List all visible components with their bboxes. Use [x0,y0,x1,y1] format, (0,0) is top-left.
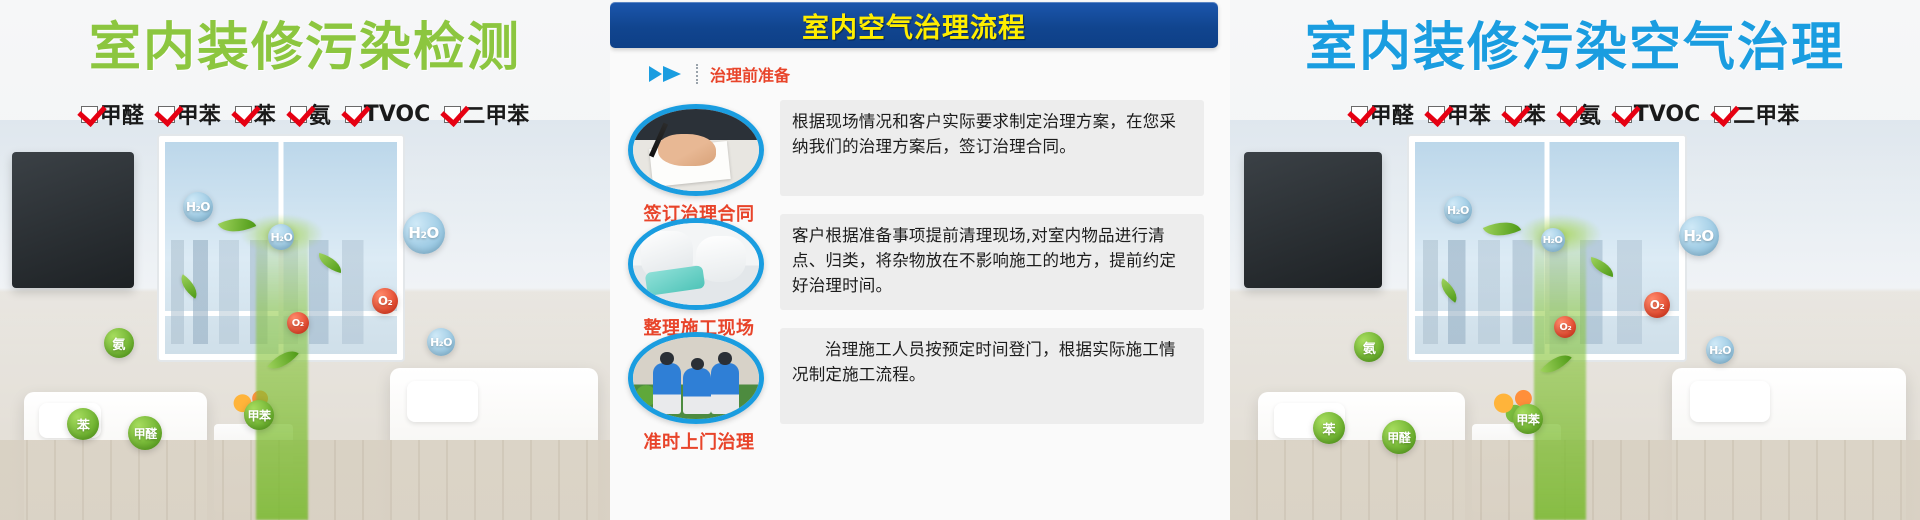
workers-arriving-photo [633,337,759,419]
checkmark-icon [345,106,362,123]
banner-stage: H₂O H₂O H₂O H₂O O₂ O₂ 氨 苯 甲醛 甲苯 室内装修污染检测… [0,0,1920,520]
checkmark-icon [1351,106,1368,123]
step-thumbnail-contract-signing[interactable] [628,104,764,196]
checkmark-icon [1615,106,1632,123]
check-item-toluene[interactable]: 甲苯 [1428,98,1491,130]
step-caption: 准时上门治理 [624,428,774,454]
green-light-beam [256,220,308,520]
molecule-benzene-icon: 苯 [67,408,99,440]
right-panel: H₂O H₂O H₂O H₂O O₂ O₂ 氨 苯 甲醛 甲苯 室内装修污染空气… [1230,0,1920,520]
check-item-toluene[interactable]: 甲苯 [158,98,221,130]
check-label: 二甲苯 [463,98,529,130]
molecule-o2-icon: O₂ [1644,292,1670,318]
right-check-list: 甲醛 甲苯 苯 氨 TVOC 二甲苯 [1230,98,1920,130]
center-panel-header: 室内空气治理流程 [610,2,1218,48]
check-label: TVOC [1634,102,1701,127]
dotted-divider [696,64,700,84]
checkmark-icon [158,106,175,123]
section-label: 治理前准备 [710,62,790,86]
checkmark-icon [444,106,461,123]
molecule-h2o-icon: H₂O [403,212,445,254]
molecule-toluene-icon: 甲苯 [1513,404,1543,434]
checkmark-icon [1560,106,1577,123]
check-item-tvoc[interactable]: TVOC [345,102,431,127]
center-panel-title: 室内空气治理流程 [802,6,1026,45]
check-item-ammonia[interactable]: 氨 [290,98,331,130]
left-panel: H₂O H₂O H₂O H₂O O₂ O₂ 氨 苯 甲醛 甲苯 室内装修污染检测… [0,0,610,520]
worker-figure [711,363,739,414]
checkmark-icon [1505,106,1522,123]
pen-icon [649,123,668,158]
worker-figure [653,363,681,414]
check-label: 二甲苯 [1733,98,1799,130]
check-label: 氨 [1579,98,1601,130]
molecule-formaldehyde-icon: 甲醛 [128,416,162,450]
right-panel-title: 室内装修污染空气治理 [1230,22,1920,74]
checkmark-icon [1714,106,1731,123]
left-panel-title: 室内装修污染检测 [0,22,610,74]
molecule-h2o-icon: H₂O [1679,216,1719,256]
check-label: 甲苯 [1447,98,1491,130]
site-cleaning-photo [633,223,759,305]
check-item-benzene[interactable]: 苯 [235,98,276,130]
center-panel: 室内空气治理流程 治理前准备 签订治理合同 根据现场情况和客户实际 [610,0,1230,520]
room-photo-right: H₂O H₂O H₂O H₂O O₂ O₂ 氨 苯 甲醛 甲苯 [1230,120,1920,520]
double-chevron-right-icon [648,64,686,84]
molecule-h2o-icon: H₂O [1541,228,1565,252]
left-check-list: 甲醛 甲苯 苯 氨 TVOC 二甲苯 [0,98,610,130]
molecule-o2-icon: O₂ [372,288,398,314]
molecule-h2o-icon: H₂O [427,328,455,356]
check-label: 苯 [1524,98,1546,130]
molecule-formaldehyde-icon: 甲醛 [1382,420,1416,454]
checkmark-icon [81,106,98,123]
section-heading: 治理前准备 [648,62,790,86]
process-step: 整理施工现场 客户根据准备事项提前清理现场,对室内物品进行清点、归类，将杂物放在… [628,214,1204,324]
worker-figure [683,368,711,414]
process-step: 准时上门治理 治理施工人员按预定时间登门，根据实际施工情况制定施工流程。 [628,328,1204,438]
check-item-tvoc[interactable]: TVOC [1615,102,1701,127]
check-label: 甲苯 [177,98,221,130]
glove-icon [696,236,746,282]
molecule-h2o-icon: H₂O [183,192,213,222]
step-thumbnail-workers-arriving[interactable] [628,332,764,424]
tv-screen [12,152,134,288]
check-item-formaldehyde[interactable]: 甲醛 [1351,98,1414,130]
molecule-ammonia-icon: 氨 [104,328,134,358]
tv-screen [1244,152,1382,288]
check-item-ammonia[interactable]: 氨 [1560,98,1601,130]
step-description: 治理施工人员按预定时间登门，根据实际施工情况制定施工流程。 [780,328,1204,424]
check-item-formaldehyde[interactable]: 甲醛 [81,98,144,130]
molecule-benzene-icon: 苯 [1313,412,1345,444]
molecule-h2o-icon: H₂O [1706,336,1734,364]
check-label: 甲醛 [1370,98,1414,130]
check-label: 氨 [309,98,331,130]
pillow [1690,381,1770,423]
pillow [407,381,478,423]
molecule-h2o-icon: H₂O [1444,196,1472,224]
contract-signing-photo [633,109,759,191]
checkmark-icon [235,106,252,123]
step-description: 客户根据准备事项提前清理现场,对室内物品进行清点、归类，将杂物放在不影响施工的地… [780,214,1204,310]
step-thumbnail-site-cleaning[interactable] [628,218,764,310]
check-label: TVOC [364,102,431,127]
step-description: 根据现场情况和客户实际要求制定治理方案，在您采纳我们的治理方案后，签订治理合同。 [780,100,1204,196]
molecule-ammonia-icon: 氨 [1354,332,1384,362]
molecule-o2-icon: O₂ [287,312,309,334]
check-item-xylene[interactable]: 二甲苯 [1714,98,1799,130]
check-label: 苯 [254,98,276,130]
process-step: 签订治理合同 根据现场情况和客户实际要求制定治理方案，在您采纳我们的治理方案后，… [628,100,1204,210]
check-item-xylene[interactable]: 二甲苯 [444,98,529,130]
check-label: 甲醛 [100,98,144,130]
molecule-toluene-icon: 甲苯 [244,400,274,430]
center-panel-body: 治理前准备 签订治理合同 根据现场情况和客户实际要求制定治理方案，在您采纳我们的… [610,48,1218,520]
check-item-benzene[interactable]: 苯 [1505,98,1546,130]
checkmark-icon [1428,106,1445,123]
checkmark-icon [290,106,307,123]
room-photo-left: H₂O H₂O H₂O H₂O O₂ O₂ 氨 苯 甲醛 甲苯 [0,120,610,520]
